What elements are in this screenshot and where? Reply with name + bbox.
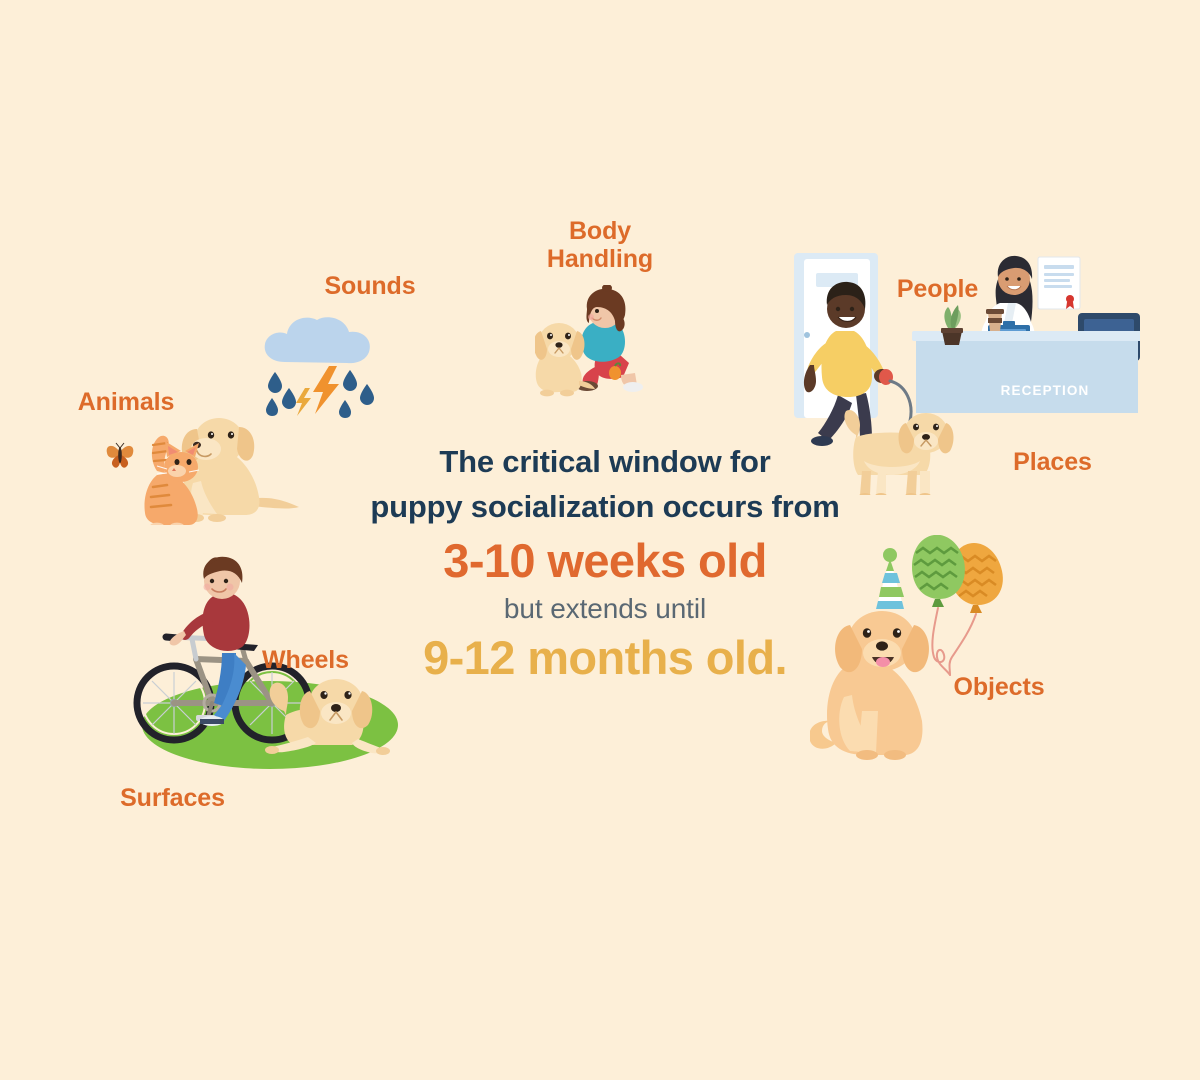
- sounds-scene: [255, 308, 385, 420]
- central-statement: The critical window for puppy socializat…: [300, 440, 910, 686]
- statement-line-5-highlight: 9-12 months old.: [300, 629, 910, 686]
- category-label-surfaces: Surfaces: [110, 784, 235, 812]
- statement-line-2: puppy socialization occurs from: [300, 485, 910, 530]
- animals-scene: [95, 405, 325, 525]
- category-label-sounds: Sounds: [315, 272, 425, 300]
- category-label-body-handling: Body Handling: [520, 217, 680, 273]
- rain-cloud-lightning-icon: [255, 308, 385, 420]
- category-label-people: People: [880, 275, 995, 303]
- body-handling-scene: [535, 285, 665, 400]
- cat-dog-butterfly-icon: [95, 405, 325, 525]
- statement-line-3-highlight: 3-10 weeks old: [300, 532, 910, 589]
- category-label-animals: Animals: [72, 388, 180, 416]
- child-petting-puppy-icon: [535, 285, 665, 400]
- category-label-objects: Objects: [940, 673, 1058, 701]
- statement-line-4: but extends until: [300, 591, 910, 627]
- statement-line-1: The critical window for: [300, 440, 910, 485]
- category-label-places: Places: [1000, 448, 1105, 476]
- reception-sign-label: RECEPTION: [995, 383, 1095, 398]
- infographic-canvas: Animals Sounds: [0, 0, 1200, 1080]
